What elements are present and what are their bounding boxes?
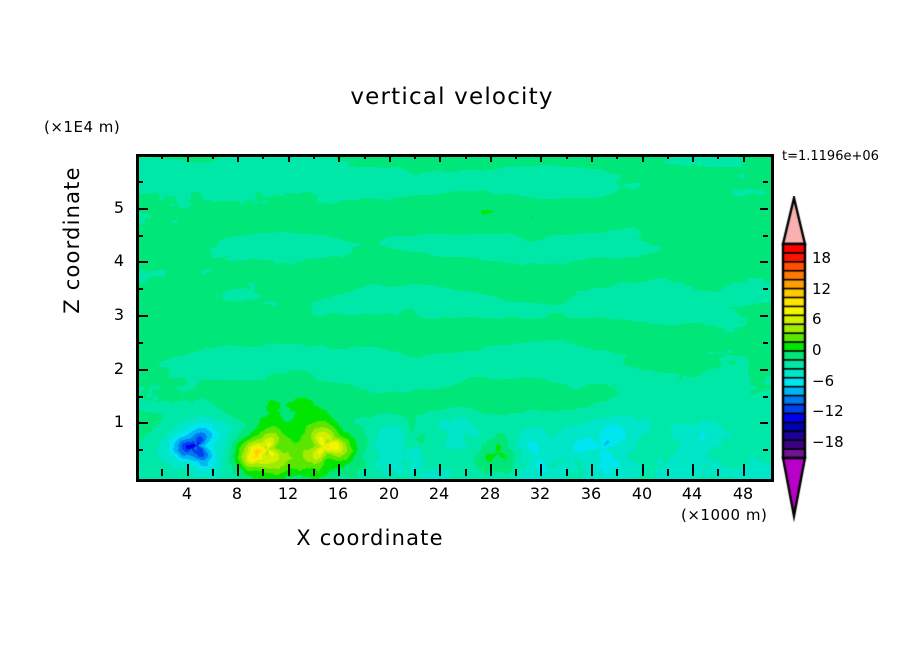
x-tick-label: 32 <box>520 484 560 503</box>
axis-tick <box>760 422 768 424</box>
x-tick-label: 4 <box>167 484 207 503</box>
axis-tick <box>262 154 264 159</box>
axis-tick <box>364 154 366 159</box>
axis-tick <box>414 469 416 476</box>
axis-tick <box>515 154 517 159</box>
axis-tick <box>490 154 492 162</box>
axis-tick <box>760 208 768 210</box>
axis-tick <box>743 154 745 162</box>
axis-tick <box>136 422 148 424</box>
colorbar-tick-label: 18 <box>812 249 831 267</box>
axis-tick <box>667 154 669 159</box>
axis-tick <box>763 449 768 451</box>
x-tick-label: 40 <box>622 484 662 503</box>
axis-tick <box>763 396 768 398</box>
axis-tick <box>313 469 315 476</box>
axis-tick <box>616 469 618 476</box>
axis-tick <box>642 154 644 162</box>
y-tick-label: 2 <box>94 359 124 378</box>
axis-tick <box>616 154 618 159</box>
axis-tick <box>237 464 239 476</box>
x-tick-label: 28 <box>470 484 510 503</box>
y-tick-label: 1 <box>94 412 124 431</box>
axis-tick <box>414 154 416 159</box>
figure-canvas: vertical velocity (×1E4 m) Z coordinate … <box>0 0 904 654</box>
axis-tick <box>161 154 163 159</box>
axis-tick <box>313 154 315 159</box>
axis-tick <box>439 464 441 476</box>
axis-tick <box>763 181 768 183</box>
axis-tick <box>439 154 441 162</box>
axis-tick <box>743 464 745 476</box>
axis-tick <box>338 154 340 162</box>
axis-tick <box>136 369 148 371</box>
colorbar-tick-label: 12 <box>812 280 831 298</box>
chart-title: vertical velocity <box>0 84 904 110</box>
colorbar: 181260−6−12−18 <box>775 196 895 526</box>
axis-tick <box>136 235 143 237</box>
axis-tick <box>187 154 189 162</box>
x-tick-label: 8 <box>217 484 257 503</box>
x-tick-label: 48 <box>723 484 763 503</box>
axis-tick <box>136 396 143 398</box>
colorbar-tick-label: 0 <box>812 341 822 359</box>
plot-area <box>136 154 774 482</box>
x-tick-label: 16 <box>318 484 358 503</box>
axis-tick <box>136 261 148 263</box>
y-axis-title: Z coordinate <box>60 150 84 330</box>
axis-tick <box>187 464 189 476</box>
axis-tick <box>540 154 542 162</box>
x-axis-title: X coordinate <box>0 526 740 550</box>
axis-tick <box>540 464 542 476</box>
y-tick-label: 5 <box>94 198 124 217</box>
axis-tick <box>642 464 644 476</box>
axis-tick <box>490 464 492 476</box>
axis-tick <box>763 235 768 237</box>
colorbar-tick-label: −6 <box>812 372 834 390</box>
axis-tick <box>288 464 290 476</box>
axis-tick <box>136 315 148 317</box>
axis-tick <box>212 469 214 476</box>
x-tick-label: 36 <box>571 484 611 503</box>
axis-tick <box>465 154 467 159</box>
axis-tick <box>465 469 467 476</box>
axis-tick <box>760 315 768 317</box>
axis-tick <box>566 154 568 159</box>
axis-tick <box>161 469 163 476</box>
axis-tick <box>692 154 694 162</box>
colorbar-tick-label: −12 <box>812 402 844 420</box>
axis-tick <box>763 342 768 344</box>
x-tick-label: 44 <box>672 484 712 503</box>
axis-tick <box>760 261 768 263</box>
y-tick-label: 4 <box>94 251 124 270</box>
x-tick-label: 20 <box>369 484 409 503</box>
axis-tick <box>262 469 264 476</box>
axis-tick <box>389 464 391 476</box>
axis-tick <box>364 469 366 476</box>
axis-tick <box>288 154 290 162</box>
axis-tick <box>763 288 768 290</box>
x-axis-units-label: (×1000 m) <box>681 506 767 524</box>
axis-tick <box>692 464 694 476</box>
axis-tick <box>136 449 143 451</box>
axis-tick <box>760 369 768 371</box>
axis-tick <box>136 342 143 344</box>
y-tick-label: 3 <box>94 305 124 324</box>
velocity-field-heatmap <box>139 157 771 479</box>
axis-tick <box>717 469 719 476</box>
colorbar-tick-label: 6 <box>812 310 822 328</box>
colorbar-tick-label: −18 <box>812 433 844 451</box>
axis-tick <box>237 154 239 162</box>
axis-tick <box>136 208 148 210</box>
timestamp-annotation: t=1.1196e+06 <box>782 149 879 164</box>
x-tick-label: 24 <box>419 484 459 503</box>
axis-tick <box>212 154 214 159</box>
axis-tick <box>591 464 593 476</box>
axis-tick <box>566 469 568 476</box>
axis-tick <box>591 154 593 162</box>
axis-tick <box>389 154 391 162</box>
axis-tick <box>136 181 143 183</box>
axis-tick <box>338 464 340 476</box>
axis-tick <box>717 154 719 159</box>
axis-tick <box>667 469 669 476</box>
colorbar-gradient <box>775 196 895 526</box>
y-axis-units-label: (×1E4 m) <box>44 118 120 136</box>
x-tick-label: 12 <box>268 484 308 503</box>
axis-tick <box>515 469 517 476</box>
axis-tick <box>136 288 143 290</box>
